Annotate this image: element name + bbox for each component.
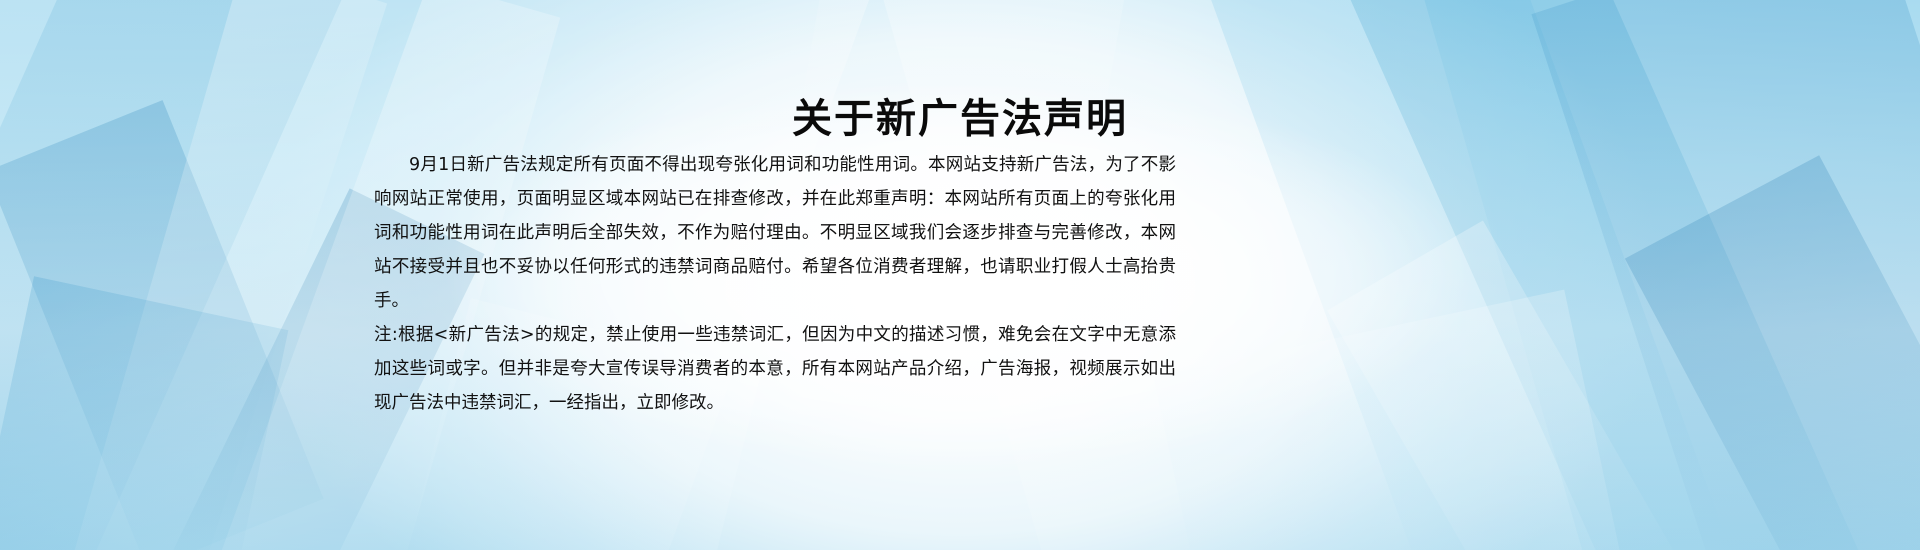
statement-body: 9月1日新广告法规定所有页面不得出现夸张化用词和功能性用词。本网站支持新广告法，… (374, 148, 1176, 420)
page-title: 关于新广告法声明 (0, 86, 1920, 144)
advertising-law-statement-banner: 关于新广告法声明 9月1日新广告法规定所有页面不得出现夸张化用词和功能性用词。本… (0, 0, 1920, 550)
statement-paragraph-main: 9月1日新广告法规定所有页面不得出现夸张化用词和功能性用词。本网站支持新广告法，… (374, 148, 1176, 318)
statement-paragraph-note: 注:根据<新广告法>的规定，禁止使用一些违禁词汇，但因为中文的描述习惯，难免会在… (374, 318, 1176, 420)
statement-content: 关于新广告法声明 9月1日新广告法规定所有页面不得出现夸张化用词和功能性用词。本… (0, 0, 1920, 550)
